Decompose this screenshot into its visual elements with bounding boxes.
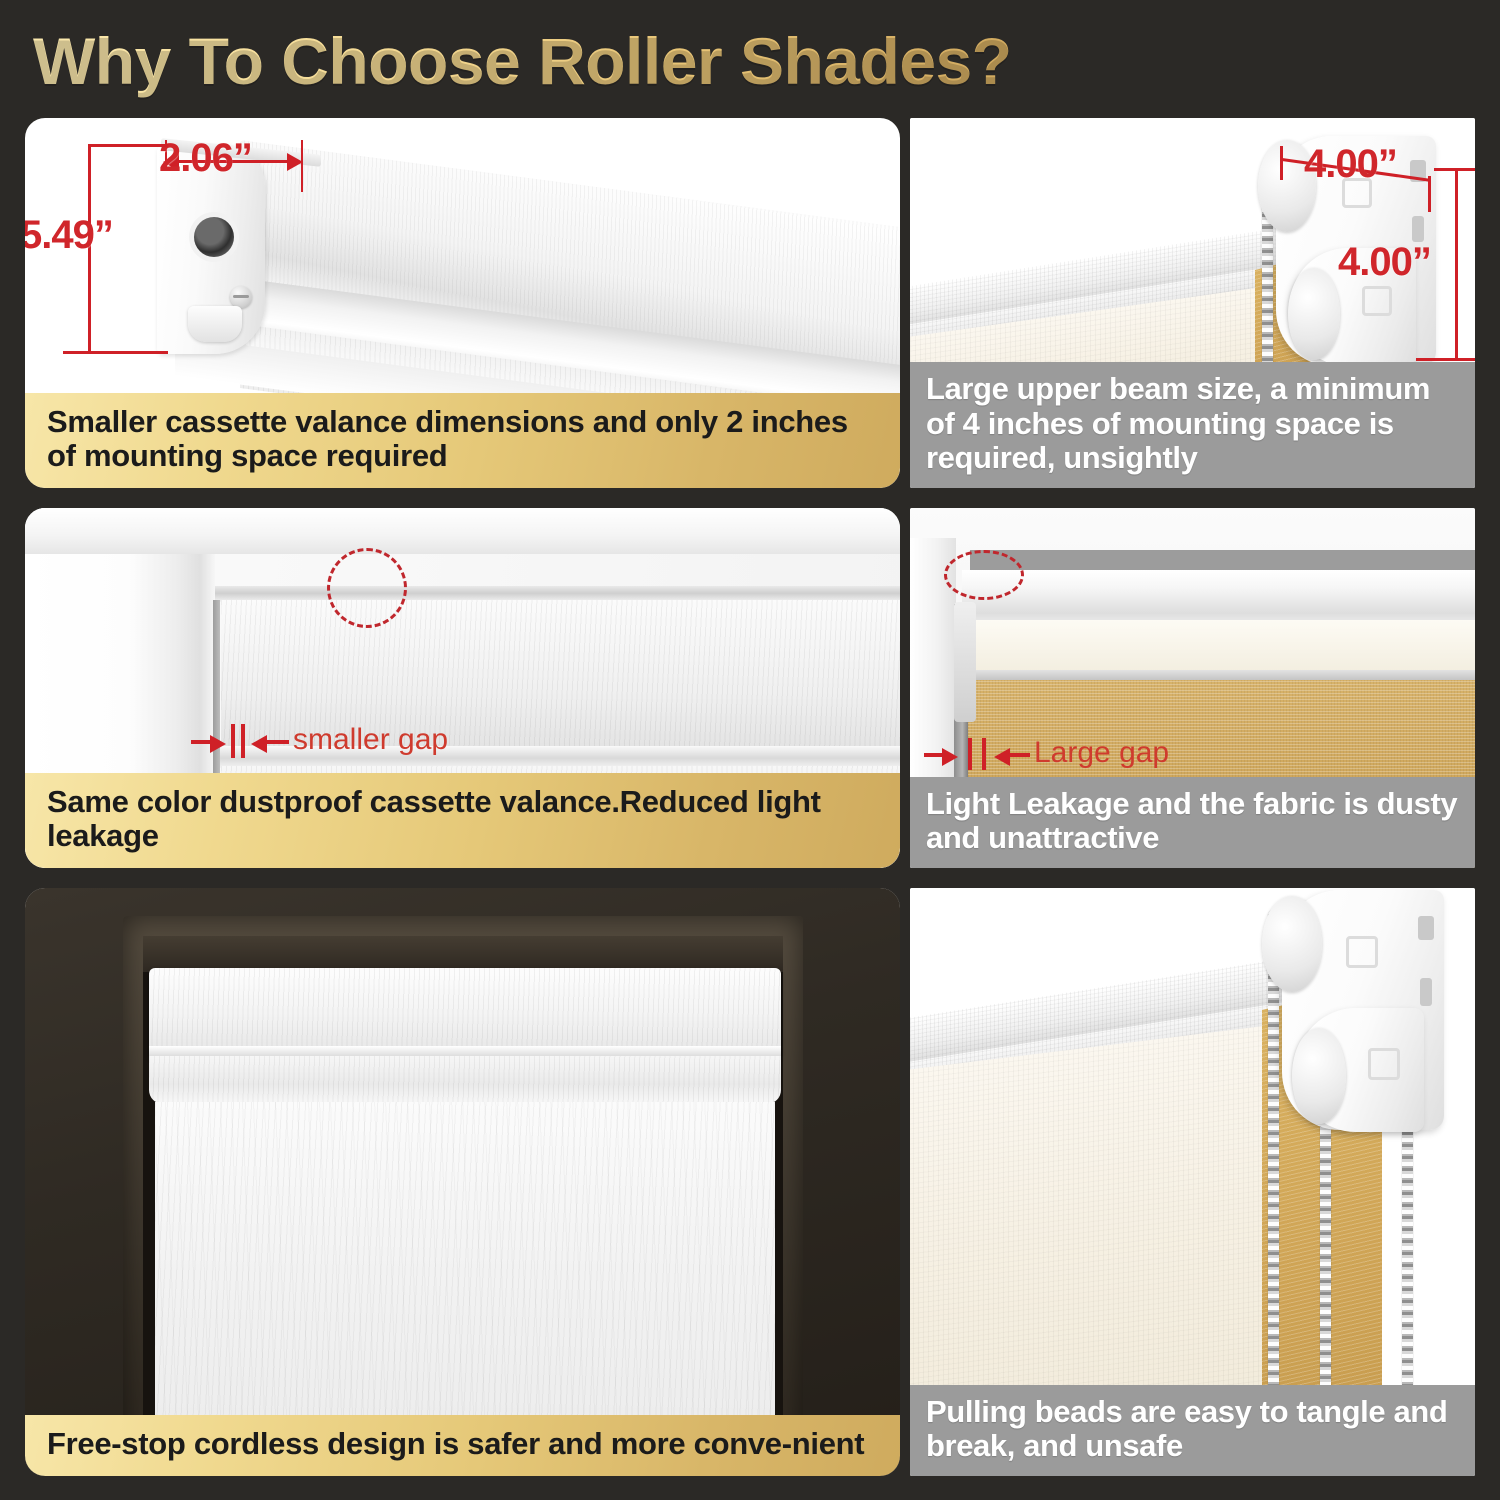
- dim-h-tick-top: [1434, 168, 1475, 171]
- gap-label: smaller gap: [293, 723, 448, 757]
- highlight-circle: [944, 550, 1024, 600]
- gap-arrow-right: [994, 748, 1010, 766]
- dim-width-label: 2.06”: [159, 136, 252, 181]
- panel-large-upper-beam: 4.00” 4.00” Large upper beam size, a min…: [910, 118, 1475, 488]
- cassette-valance: [149, 968, 781, 1056]
- valance-roll: [149, 1056, 781, 1104]
- bracket-slot-2: [1420, 978, 1432, 1006]
- window-reveal-top: [143, 936, 783, 972]
- gap-arrow-left: [210, 735, 226, 753]
- gap-arrow-right: [251, 735, 267, 753]
- dim-height-label: 5.49”: [25, 213, 113, 258]
- cream-fabric-band: [962, 620, 1475, 672]
- panel-light-leakage: Large gap Light Leakage and the fabric i…: [910, 508, 1475, 868]
- window-casing-top: [25, 508, 900, 554]
- roller-end-plate-lower: [1288, 268, 1340, 360]
- dim-width-arrow-right: [287, 153, 303, 171]
- dim-w-tick-left: [1280, 146, 1283, 180]
- gap-label: Large gap: [1034, 736, 1169, 770]
- bead-chain-front: [1268, 910, 1279, 1450]
- gap-arrow-left: [942, 748, 958, 766]
- dim-w-tick-right: [1428, 176, 1431, 212]
- bracket-slot-2: [1412, 216, 1424, 242]
- roller-end-plate: [1262, 896, 1322, 992]
- panel-1-caption: Smaller cassette valance dimensions and …: [25, 393, 900, 488]
- page-title: Why To Choose Roller Shades?: [33, 22, 1133, 100]
- panel-smaller-cassette: 2.06” 5.49” Smaller cassette valance dim…: [25, 118, 900, 488]
- screw-icon: [230, 286, 252, 308]
- bracket-emboss-1: [1346, 936, 1378, 968]
- highlight-circle: [327, 548, 407, 628]
- panel-6-caption: Pulling beads are easy to tangle and bre…: [910, 1385, 1475, 1476]
- panel-pulling-beads: Pulling beads are easy to tangle and bre…: [910, 888, 1475, 1476]
- gap-tick-b: [982, 738, 986, 770]
- panel-4-caption: Light Leakage and the fabric is dusty an…: [910, 777, 1475, 868]
- gap-arrow-left-shaft: [191, 740, 213, 744]
- panel-3-caption: Same color dustproof cassette valance.Re…: [25, 773, 900, 868]
- panel-cordless-design: Free-stop cordless design is safer and m…: [25, 888, 900, 1476]
- gap-arrow-right-shaft: [1008, 753, 1030, 757]
- gap-arrow-left-shaft: [924, 753, 946, 757]
- bracket-emboss-2: [1368, 1048, 1400, 1080]
- gap-arrow-right-shaft: [265, 740, 289, 744]
- panel-2-caption: Large upper beam size, a minimum of 4 in…: [910, 362, 1475, 488]
- dim-h-label: 4.00”: [1338, 240, 1431, 285]
- gap-tick-a: [968, 738, 972, 770]
- valance-foot: [188, 306, 242, 342]
- room-window-photo: [25, 888, 900, 1476]
- bracket-slot-1: [1418, 916, 1434, 940]
- dim-h-line: [1455, 168, 1458, 360]
- dim-h-tick-bottom: [1416, 358, 1475, 361]
- bracket-emboss-2: [1362, 286, 1392, 316]
- roller-end-plate-lower: [1292, 1028, 1346, 1124]
- shade-fabric: [155, 1102, 775, 1447]
- gap-tick-b: [241, 724, 245, 758]
- dim-height-tick-bottom: [63, 351, 168, 354]
- side-bracket: [954, 602, 976, 722]
- panel-5-caption: Free-stop cordless design is safer and m…: [25, 1415, 900, 1476]
- dim-height-tick-top: [88, 144, 168, 147]
- gap-tick-a: [231, 724, 235, 758]
- panel-dustproof-cassette: smaller gap Same color dustproof cassett…: [25, 508, 900, 868]
- valance-mount-hole: [194, 217, 234, 257]
- dim-w-label: 4.00”: [1304, 142, 1397, 187]
